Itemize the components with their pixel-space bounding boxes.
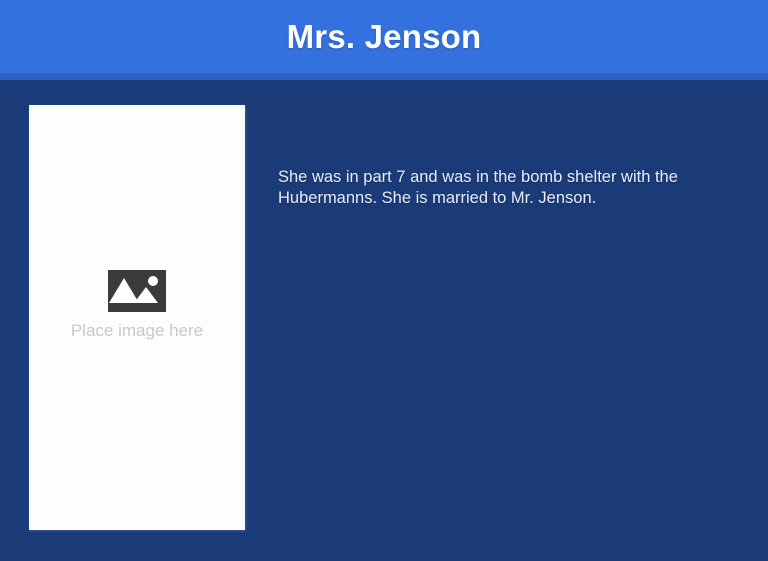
image-placeholder-label: Place image here <box>71 322 203 341</box>
image-placeholder-card[interactable]: Place image here <box>29 105 245 530</box>
page-title: Mrs. Jenson <box>287 20 482 53</box>
image-placeholder-icon <box>108 270 166 312</box>
body-paragraph: She was in part 7 and was in the bomb sh… <box>278 167 714 209</box>
slide-header: Mrs. Jenson <box>0 0 768 73</box>
slide: Mrs. Jenson Place image here She was in … <box>0 0 768 561</box>
header-divider <box>0 73 768 80</box>
image-placeholder-content: Place image here <box>71 270 203 341</box>
